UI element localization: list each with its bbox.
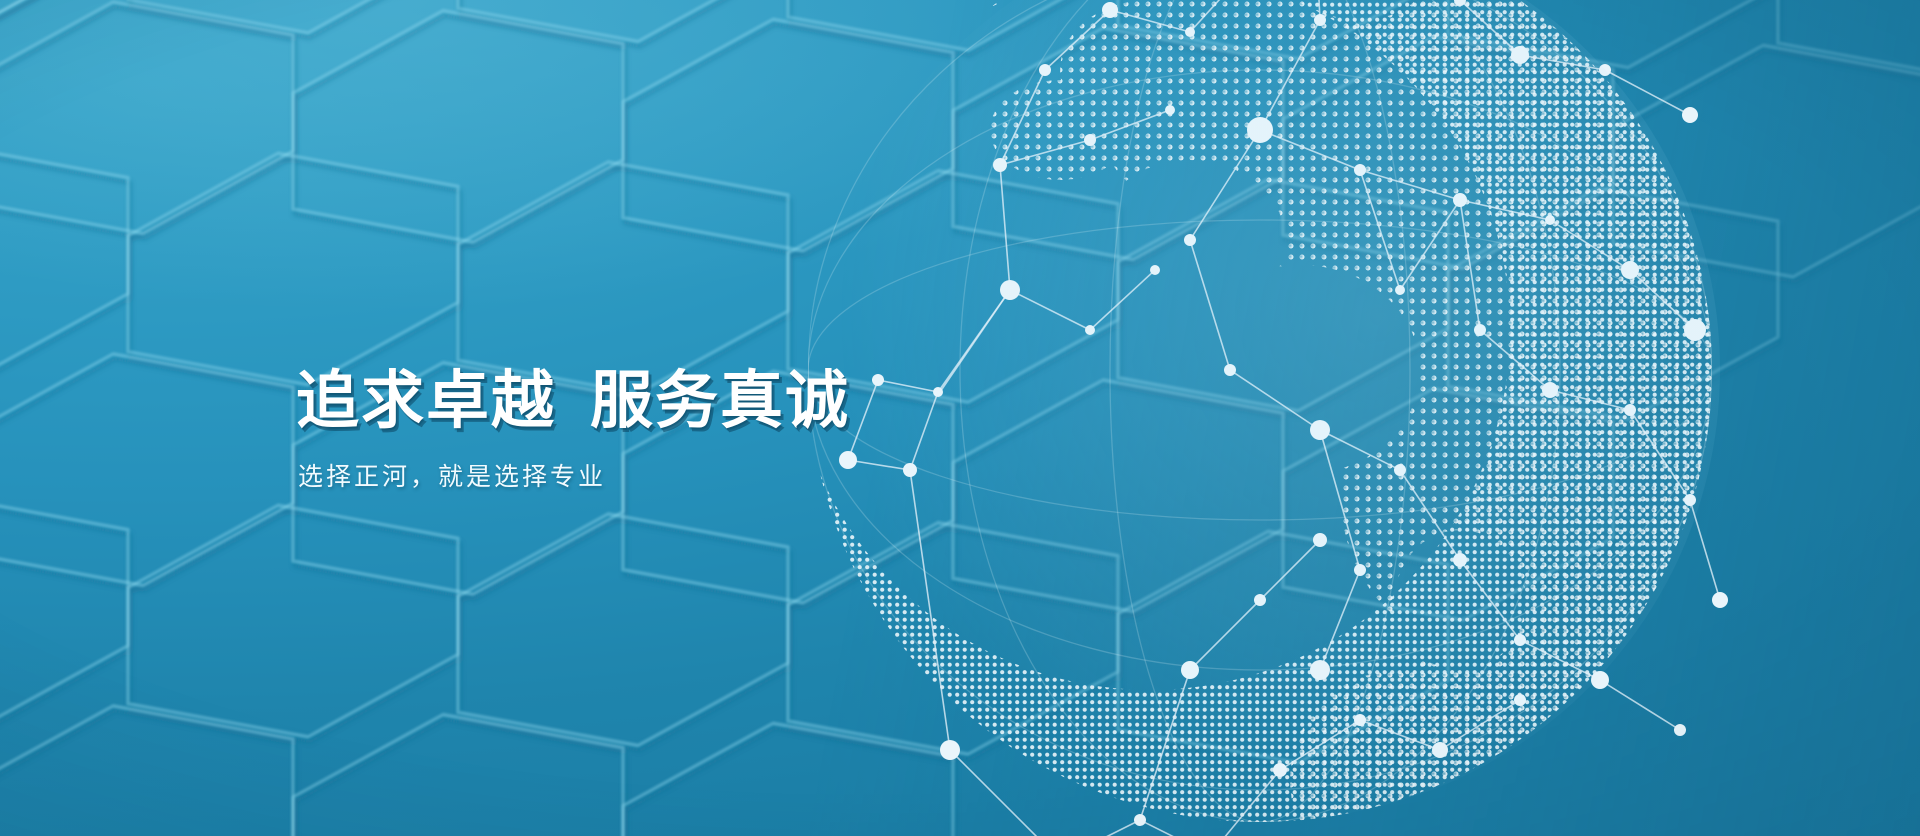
hero-banner: 追求卓越服务真诚 选择正河，就是选择专业 xyxy=(0,0,1920,836)
hero-copy: 追求卓越服务真诚 选择正河，就是选择专业 xyxy=(296,368,1116,493)
headline-phrase-2: 服务真诚 xyxy=(590,366,850,436)
headline-phrase-1: 追求卓越 xyxy=(296,366,556,436)
page-title: 追求卓越服务真诚 xyxy=(296,368,1116,435)
page-subtitle: 选择正河，就是选择专业 xyxy=(298,457,1116,493)
